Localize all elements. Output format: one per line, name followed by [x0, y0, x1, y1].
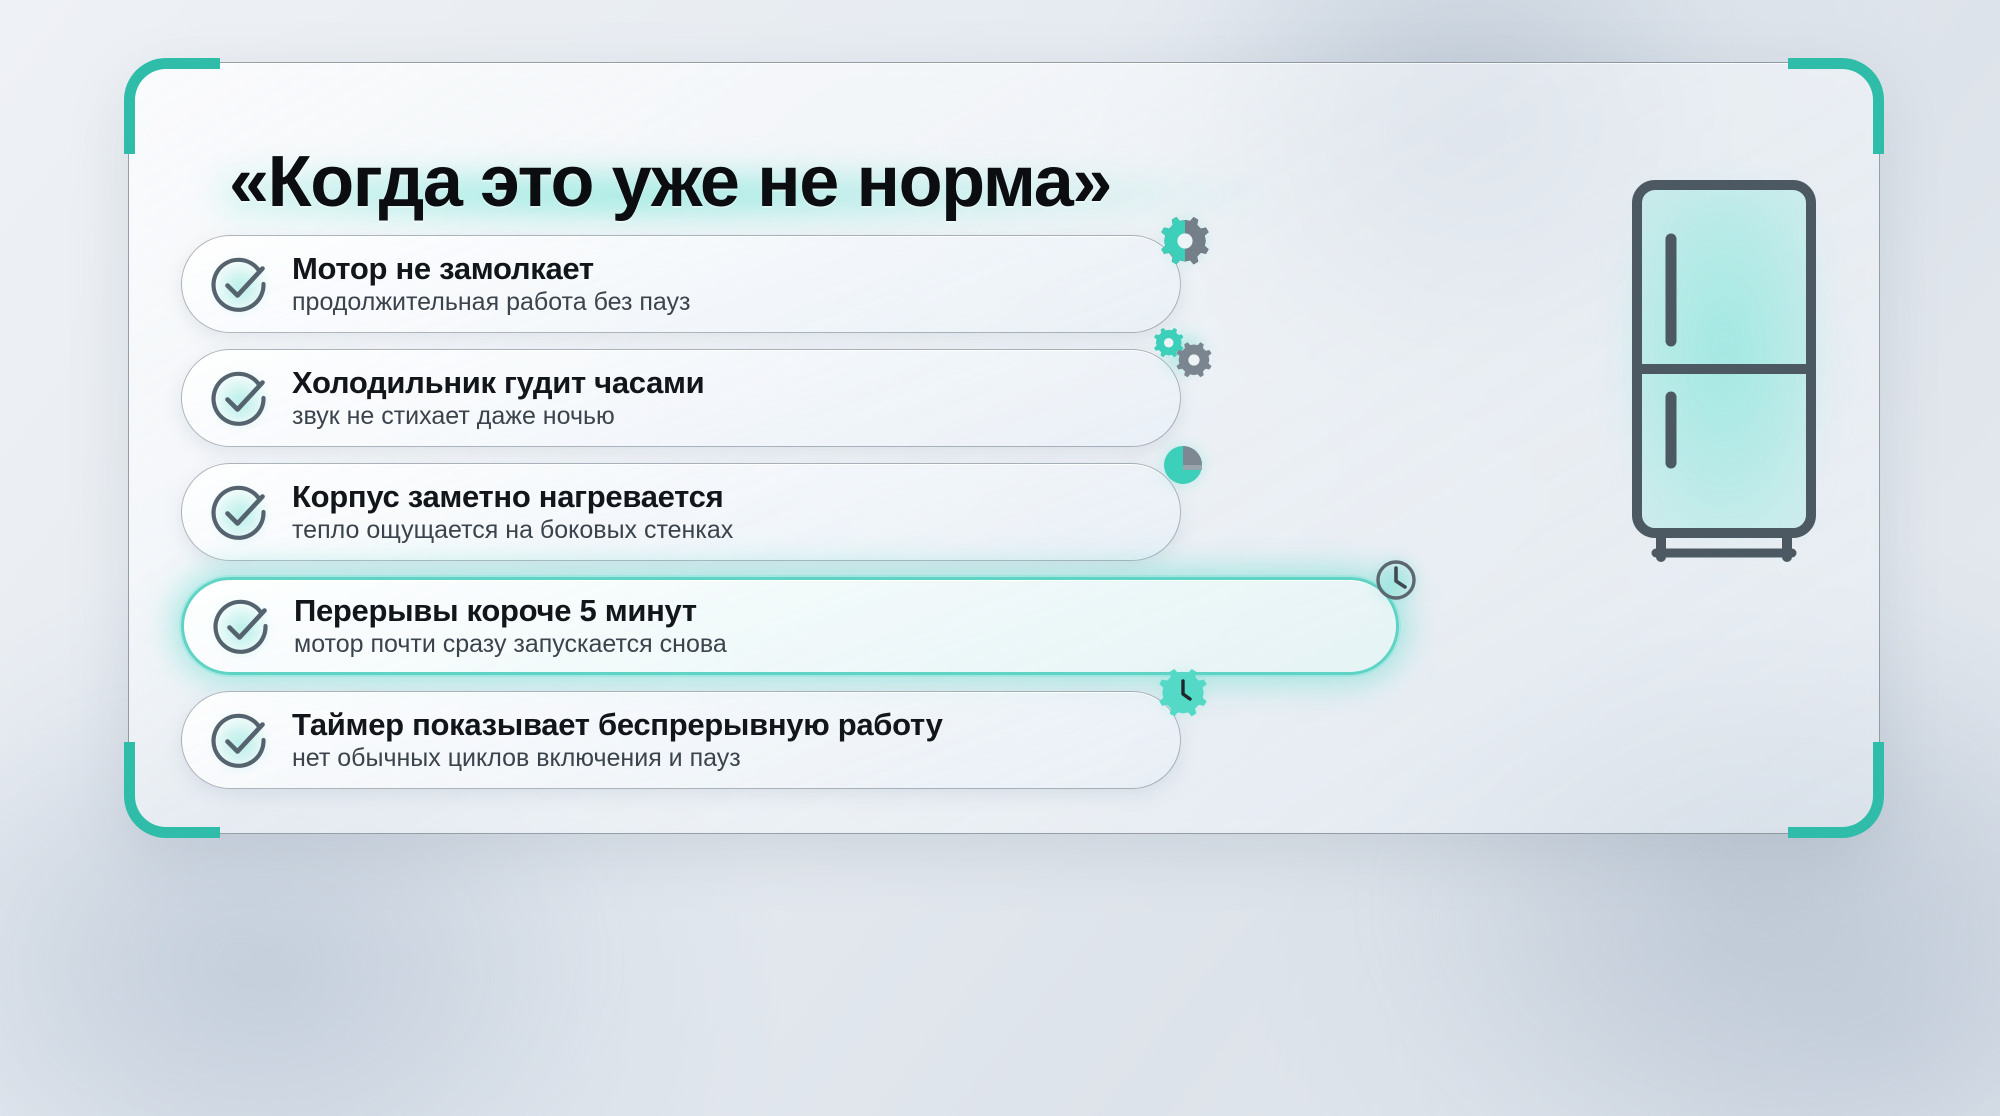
gear-icon	[1158, 214, 1212, 268]
list-item-subtitle: продолжительная работа без пауз	[292, 288, 691, 317]
check-circle-icon	[206, 364, 274, 432]
check-circle-icon	[208, 592, 276, 660]
refrigerator-icon	[1609, 173, 1839, 573]
list-item-subtitle: мотор почти сразу запускается снова	[294, 630, 727, 659]
pie-chart-icon	[1158, 440, 1208, 490]
list-item-text: Перерывы короче 5 минут мотор почти сраз…	[294, 593, 727, 659]
list-item[interactable]: Таймер показывает беспрерывную работу не…	[181, 691, 1181, 789]
list-item-title: Мотор не замолкает	[292, 251, 691, 287]
list-item-text: Холодильник гудит часами звук не стихает…	[292, 365, 704, 431]
double-gear-icon	[1152, 326, 1216, 380]
check-circle-icon	[206, 706, 274, 774]
list-item-text: Мотор не замолкает продолжительная работ…	[292, 251, 691, 317]
list-item[interactable]: Мотор не замолкает продолжительная работ…	[181, 235, 1181, 333]
list-item-subtitle: звук не стихает даже ночью	[292, 402, 704, 431]
list-item-text: Корпус заметно нагревается тепло ощущает…	[292, 479, 733, 545]
glass-card-panel: «Когда это уже не норма» Мотор не замолк…	[128, 62, 1880, 834]
list-item-subtitle: нет обычных циклов включения и пауз	[292, 744, 943, 773]
check-circle-icon	[206, 250, 274, 318]
list-item-text: Таймер показывает беспрерывную работу не…	[292, 707, 943, 773]
list-item-title: Таймер показывает беспрерывную работу	[292, 707, 943, 743]
list-item[interactable]: Холодильник гудит часами звук не стихает…	[181, 349, 1181, 447]
check-circle-icon	[206, 478, 274, 546]
gear-clock-icon	[1156, 666, 1210, 720]
title-block: «Когда это уже не норма»	[229, 141, 1111, 223]
clock-icon	[1370, 554, 1422, 606]
list-item[interactable]: Корпус заметно нагревается тепло ощущает…	[181, 463, 1181, 561]
corner-bracket-bottom-right	[1788, 742, 1884, 838]
corner-bracket-top-right	[1788, 58, 1884, 154]
list-item-title: Корпус заметно нагревается	[292, 479, 733, 515]
corner-bracket-top-left	[124, 58, 220, 154]
list-item[interactable]: Перерывы короче 5 минут мотор почти сраз…	[181, 577, 1399, 675]
page-title: «Когда это уже не норма»	[229, 141, 1111, 223]
list-item-subtitle: тепло ощущается на боковых стенках	[292, 516, 733, 545]
list-item-title: Холодильник гудит часами	[292, 365, 704, 401]
list-item-title: Перерывы короче 5 минут	[294, 593, 727, 629]
checklist: Мотор не замолкает продолжительная работ…	[181, 235, 1181, 805]
